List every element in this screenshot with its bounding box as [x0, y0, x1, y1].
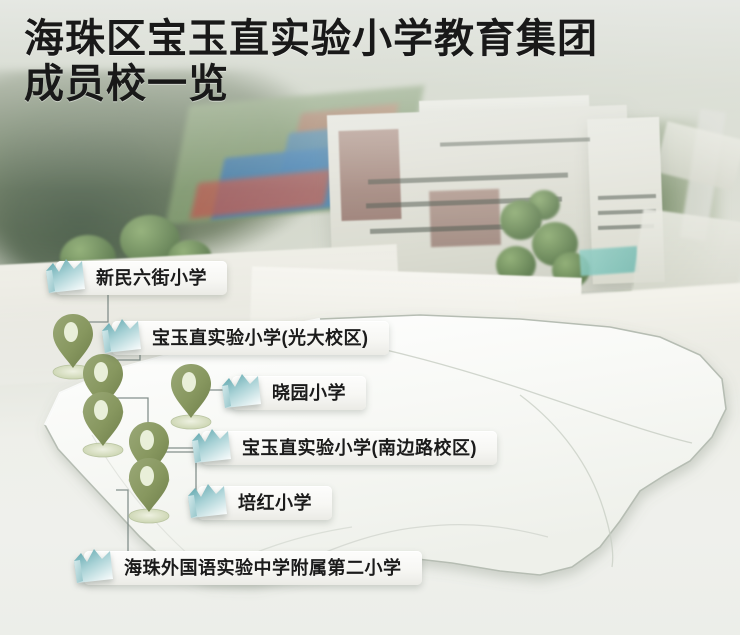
school-name: 培红小学 — [238, 494, 312, 512]
school-label-plaque[interactable]: 新民六街小学 — [56, 261, 227, 295]
school-label-xiaoyuan[interactable]: 晓园小学 — [232, 376, 366, 410]
map-pin-marker[interactable] — [122, 452, 176, 526]
school-label-baoyuzhi-guangda[interactable]: 宝玉直实验小学(光大校区) — [112, 321, 389, 355]
school-label-xinmin-liujie[interactable]: 新民六街小学 — [56, 261, 227, 295]
flag-banner-icon — [188, 425, 236, 469]
flag-banner-icon — [184, 480, 232, 524]
school-label-plaque[interactable]: 海珠外国语实验中学附属第二小学 — [84, 551, 422, 585]
school-label-plaque[interactable]: 培红小学 — [198, 486, 332, 520]
flag-banner-icon — [70, 545, 118, 589]
school-name: 宝玉直实验小学(南边路校区) — [242, 439, 477, 457]
school-name: 晓园小学 — [272, 384, 346, 402]
school-label-plaque[interactable]: 晓园小学 — [232, 376, 366, 410]
school-name: 新民六街小学 — [96, 269, 207, 287]
infographic-canvas: 海珠区宝玉直实验小学教育集团 成员校一览 — [0, 0, 740, 635]
school-name: 海珠外国语实验中学附属第二小学 — [124, 559, 402, 577]
school-label-baoyuzhi-nanbianlu[interactable]: 宝玉直实验小学(南边路校区) — [202, 431, 497, 465]
flag-banner-icon — [98, 315, 146, 359]
photo-building-brick-2 — [429, 189, 501, 247]
school-label-plaque[interactable]: 宝玉直实验小学(南边路校区) — [202, 431, 497, 465]
map-pin-hole — [94, 400, 108, 420]
map-pin-hole — [140, 466, 154, 486]
flag-banner-icon — [42, 255, 90, 299]
photo-pool — [579, 246, 639, 276]
school-label-haizhu-waiguoyu-fushu-di-er[interactable]: 海珠外国语实验中学附属第二小学 — [84, 551, 422, 585]
map-pin-hole — [140, 430, 154, 450]
school-name: 宝玉直实验小学(光大校区) — [152, 329, 369, 347]
map-pin-hole — [182, 372, 196, 392]
flag-banner-icon — [218, 370, 266, 414]
school-label-plaque[interactable]: 宝玉直实验小学(光大校区) — [112, 321, 389, 355]
school-label-peihong[interactable]: 培红小学 — [198, 486, 332, 520]
map-pin-hole — [94, 362, 108, 382]
page-title: 海珠区宝玉直实验小学教育集团 成员校一览 — [24, 16, 598, 106]
map-pin-hole — [64, 322, 78, 342]
